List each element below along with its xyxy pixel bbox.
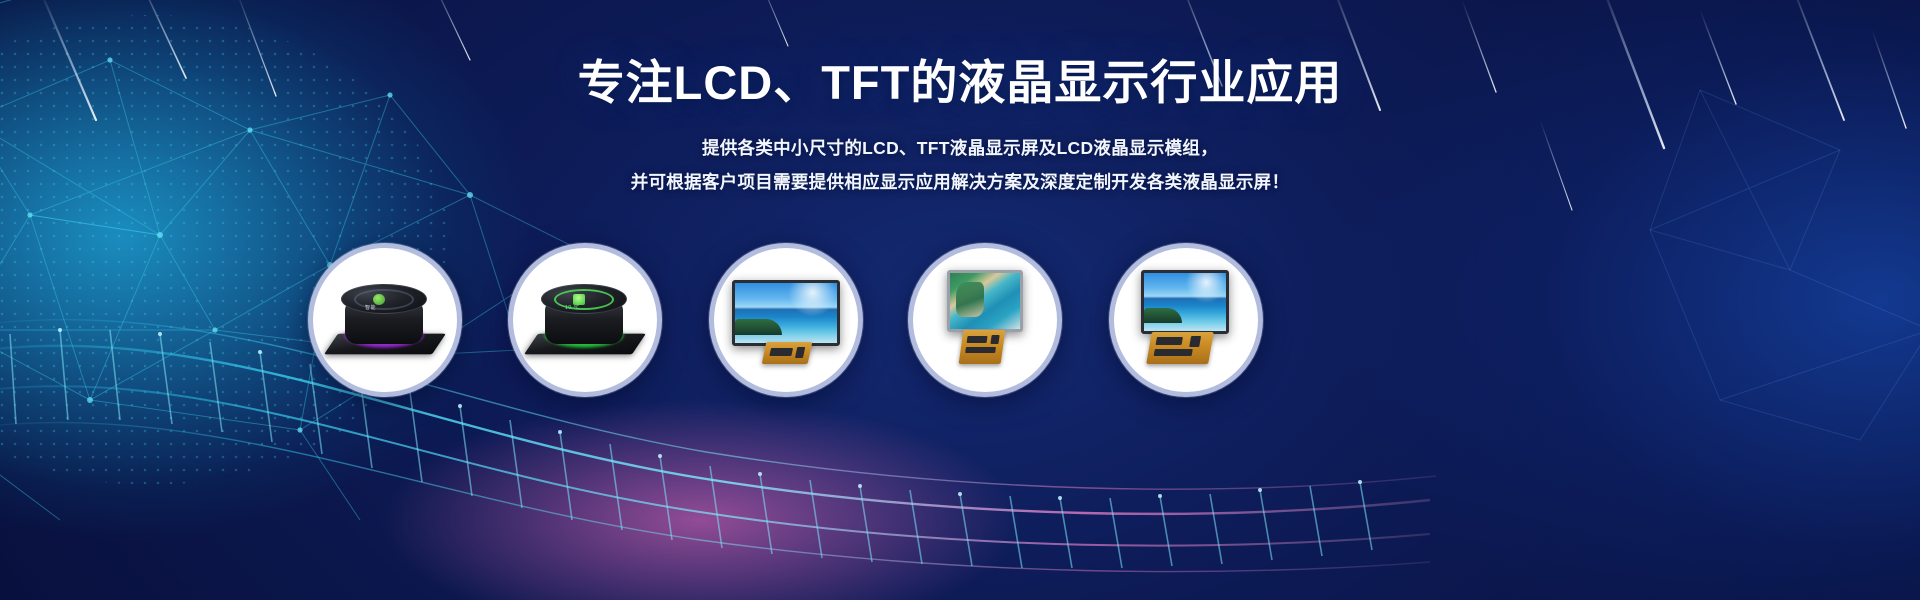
product-circle-tft-square-module[interactable]	[908, 243, 1062, 397]
smart-speaker-green-icon: 10 ℃	[527, 274, 643, 366]
product-circle-row: 智能 10 ℃	[0, 243, 1920, 403]
product-circle-tft-fpc-module[interactable]	[1109, 243, 1263, 397]
hero-banner: 专注LCD、TFT的液晶显示行业应用 提供各类中小尺寸的LCD、TFT液晶显示屏…	[0, 0, 1920, 600]
banner-text-block: 专注LCD、TFT的液晶显示行业应用 提供各类中小尺寸的LCD、TFT液晶显示屏…	[0, 58, 1920, 200]
product-circle-tft-widescreen-module[interactable]	[709, 243, 863, 397]
product-circle-smart-speaker-purple[interactable]: 智能	[308, 243, 462, 397]
banner-subtitle-line-1: 提供各类中小尺寸的LCD、TFT液晶显示屏及LCD液晶显示模组，	[0, 131, 1920, 165]
tft-square-module-icon	[937, 268, 1033, 372]
ribbon-glow	[380, 400, 1020, 600]
banner-subtitle-line-2: 并可根据客户项目需要提供相应显示应用解决方案及深度定制开发各类液晶显示屏！	[0, 165, 1920, 199]
tft-fpc-module-icon	[1133, 268, 1239, 372]
tft-widescreen-module-icon	[730, 272, 842, 368]
banner-headline: 专注LCD、TFT的液晶显示行业应用	[0, 58, 1920, 107]
smart-speaker-purple-icon: 智能	[327, 274, 443, 366]
product-circle-smart-speaker-green[interactable]: 10 ℃	[508, 243, 662, 397]
